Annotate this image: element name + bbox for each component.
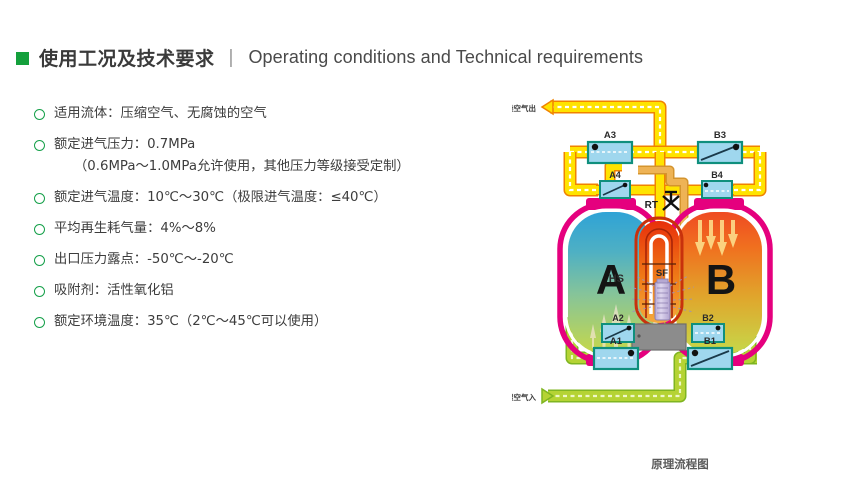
bullet-circle-icon: [34, 109, 45, 120]
bullet-circle-icon: [34, 193, 45, 204]
page-title-en: Operating conditions and Technical requi…: [248, 47, 643, 68]
tower-b-label: B: [706, 256, 736, 303]
valve-a3-label: A3: [604, 130, 616, 141]
list-item: 适用流体：压缩空气、无腐蚀的空气: [34, 104, 504, 123]
spec-text: 出口压力露点：-50℃～-20℃: [54, 250, 234, 269]
bullet-circle-icon: [34, 224, 45, 235]
list-item: 平均再生耗气量：4%～8%: [34, 219, 504, 238]
hs-label: HS: [609, 273, 624, 285]
page-title: 使用工况及技术要求 | Operating conditions and Tec…: [16, 44, 643, 71]
slide-page: 使用工况及技术要求 | Operating conditions and Tec…: [0, 0, 850, 490]
valve-a1-label: A1: [610, 336, 623, 347]
list-item: 出口压力露点：-50℃～-20℃: [34, 250, 504, 269]
spec-text: 额定进气温度：10℃～30℃（极限进气温度：≤40℃）: [54, 188, 387, 207]
page-title-cn: 使用工况及技术要求: [39, 44, 215, 71]
list-item: 吸附剂：活性氧化铝: [34, 281, 504, 300]
outlet-label: 干燥空气出: [512, 103, 536, 113]
valve-a4-label: A4: [609, 170, 621, 180]
process-flow-diagram: A B: [512, 86, 842, 486]
inlet-marker: 潮湿空气入: [512, 389, 553, 403]
spec-text: 平均再生耗气量：4%～8%: [54, 219, 216, 238]
diagram-caption: 原理流程图: [651, 457, 709, 471]
valve-b4[interactable]: B4: [702, 170, 732, 198]
specifications-list: 适用流体：压缩空气、无腐蚀的空气 额定进气压力：0.7MPa （0.6MPa～1…: [34, 104, 504, 343]
valve-b1-label: B1: [704, 336, 717, 347]
outlet-marker: 干燥空气出: [512, 100, 553, 114]
spec-text: 吸附剂：活性氧化铝: [54, 281, 174, 300]
list-item: 额定进气压力：0.7MPa: [34, 135, 504, 154]
bullet-circle-icon: [34, 317, 45, 328]
inlet-label: 潮湿空气入: [512, 392, 536, 402]
spec-text: 额定环境温度：35℃（2℃～45℃可以使用）: [54, 312, 327, 331]
list-item: 额定进气温度：10℃～30℃（极限进气温度：≤40℃）: [34, 188, 504, 207]
bullet-circle-icon: [34, 286, 45, 297]
green-square-icon: [16, 52, 29, 65]
rt-label: RT: [645, 200, 658, 211]
valve-a2-label: A2: [612, 313, 624, 323]
spec-note: （0.6MPa～1.0MPa允许使用，其他压力等级接受定制）: [74, 157, 504, 176]
valve-b3-label: B3: [714, 130, 726, 141]
valve-b4-label: B4: [711, 170, 723, 180]
spec-text: 适用流体：压缩空气、无腐蚀的空气: [54, 104, 267, 123]
valve-a3[interactable]: A3: [588, 130, 632, 163]
sf-label: SF: [656, 268, 668, 279]
list-item: 额定环境温度：35℃（2℃～45℃可以使用）: [34, 312, 504, 331]
title-separator: |: [229, 47, 234, 69]
valve-b2-label: B2: [702, 313, 714, 323]
bullet-circle-icon: [34, 140, 45, 151]
bullet-circle-icon: [34, 255, 45, 266]
valve-b3[interactable]: B3: [698, 130, 742, 163]
spec-text: 额定进气压力：0.7MPa: [54, 135, 195, 154]
